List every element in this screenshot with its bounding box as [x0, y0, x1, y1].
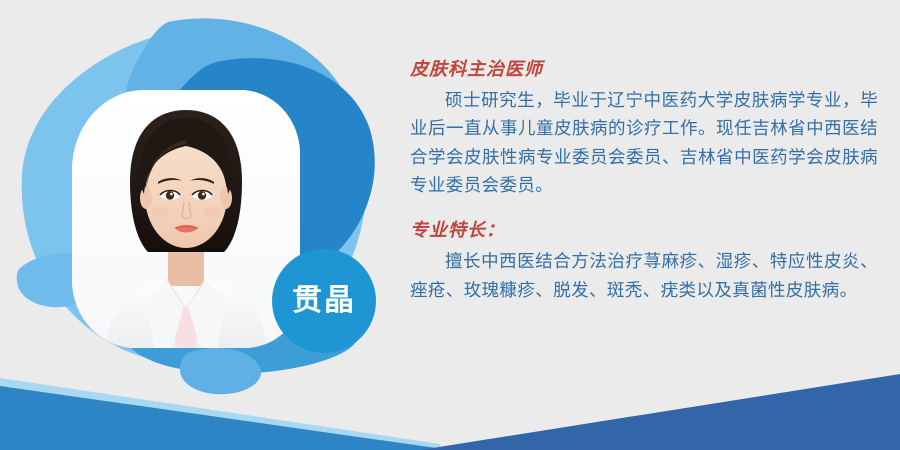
section-body-biography: 硕士研究生，毕业于辽宁中医药大学皮肤病学专业，毕业后一直从事儿童皮肤病的诊疗工作… [410, 86, 878, 199]
section-heading-title: 皮肤科主治医师 [410, 56, 878, 83]
profile-text-column: 皮肤科主治医师 硕士研究生，毕业于辽宁中医药大学皮肤病学专业，毕业后一直从事儿童… [410, 56, 878, 304]
portrait-neck [168, 248, 204, 286]
banner-pale-sliver-shape [0, 378, 440, 450]
bottom-banner [0, 370, 900, 450]
blob-nub-shape [180, 348, 261, 394]
section-specialty-block: 专业特长： 擅长中西医结合方法治疗荨麻疹、湿疹、特应性皮炎、痤疮、玫瑰糠疹、脱发… [410, 217, 878, 304]
doctor-profile-card: 贯晶 皮肤科主治医师 硕士研究生，毕业于辽宁中医药大学皮肤病学专业，毕业后一直从… [0, 0, 900, 450]
doctor-portrait [72, 90, 300, 348]
portrait-ear-right [220, 187, 232, 209]
section-body-specialty: 擅长中西医结合方法治疗荨麻疹、湿疹、特应性皮炎、痤疮、玫瑰糠疹、脱发、斑秃、疣类… [410, 247, 878, 304]
portrait-ear-left [140, 187, 152, 209]
banner-left-chevron-shape [0, 386, 450, 450]
section-title-block: 皮肤科主治医师 硕士研究生，毕业于辽宁中医药大学皮肤病学专业，毕业后一直从事儿童… [410, 56, 878, 199]
section-heading-specialty: 专业特长： [410, 217, 878, 244]
doctor-name-badge: 贯晶 [272, 249, 376, 353]
banner-right-chevron-shape [420, 374, 900, 450]
doctor-name: 贯晶 [292, 286, 356, 316]
